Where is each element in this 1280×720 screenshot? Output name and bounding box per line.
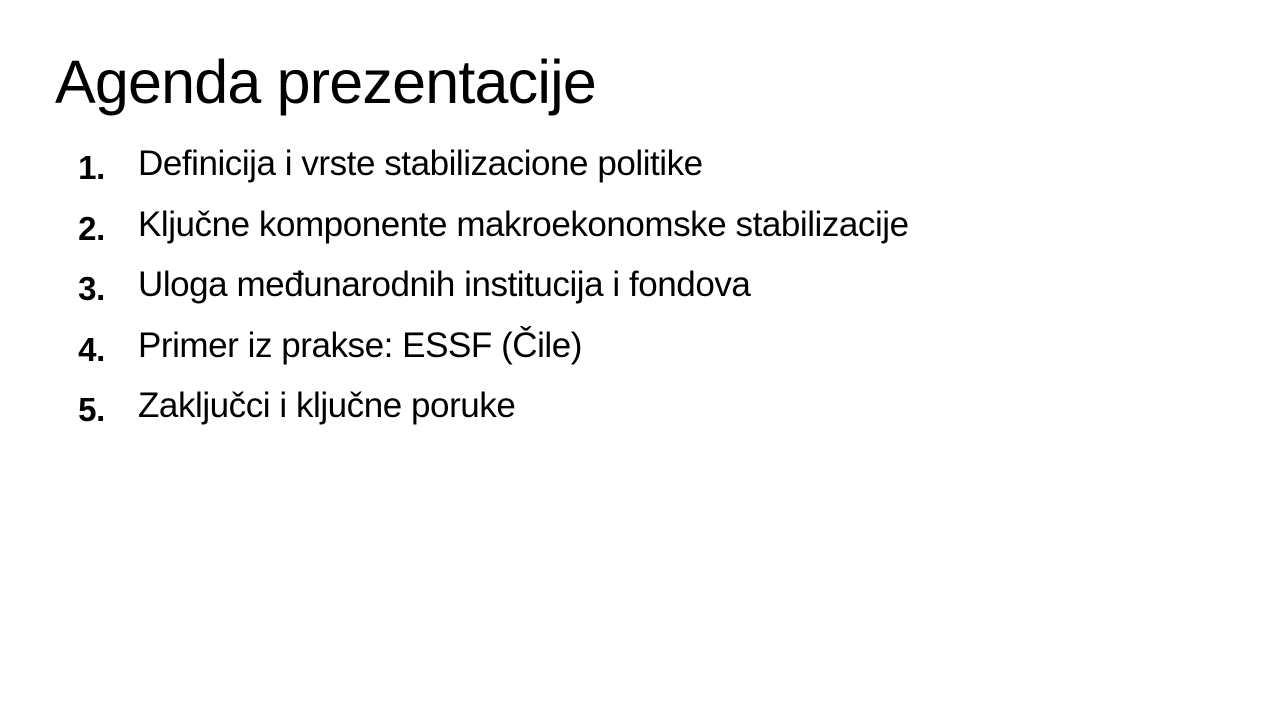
- list-item-number: 3.: [55, 272, 105, 305]
- list-item: 4. Primer iz prakse: ESSF (Čile): [55, 328, 1205, 389]
- agenda-list: 1. Definicija i vrste stabilizacione pol…: [55, 146, 1205, 449]
- page-title: Agenda prezentacije: [55, 52, 1205, 113]
- list-item-label: Primer iz prakse: ESSF (Čile): [105, 328, 1205, 363]
- list-item-label: Zaključci i ključne poruke: [105, 388, 1205, 423]
- list-item-label: Ključne komponente makroekonomske stabil…: [105, 207, 1205, 242]
- list-item: 5. Zaključci i ključne poruke: [55, 388, 1205, 449]
- list-item-number: 4.: [55, 333, 105, 366]
- list-item: 3. Uloga međunarodnih institucija i fond…: [55, 267, 1205, 328]
- list-item-number: 2.: [55, 212, 105, 245]
- list-item: 1. Definicija i vrste stabilizacione pol…: [55, 146, 1205, 207]
- list-item-label: Definicija i vrste stabilizacione politi…: [105, 146, 1205, 181]
- list-item-number: 5.: [55, 393, 105, 426]
- presentation-slide: Agenda prezentacije 1. Definicija i vrst…: [0, 0, 1280, 720]
- list-item: 2. Ključne komponente makroekonomske sta…: [55, 207, 1205, 268]
- list-item-label: Uloga međunarodnih institucija i fondova: [105, 267, 1205, 302]
- list-item-number: 1.: [55, 151, 105, 184]
